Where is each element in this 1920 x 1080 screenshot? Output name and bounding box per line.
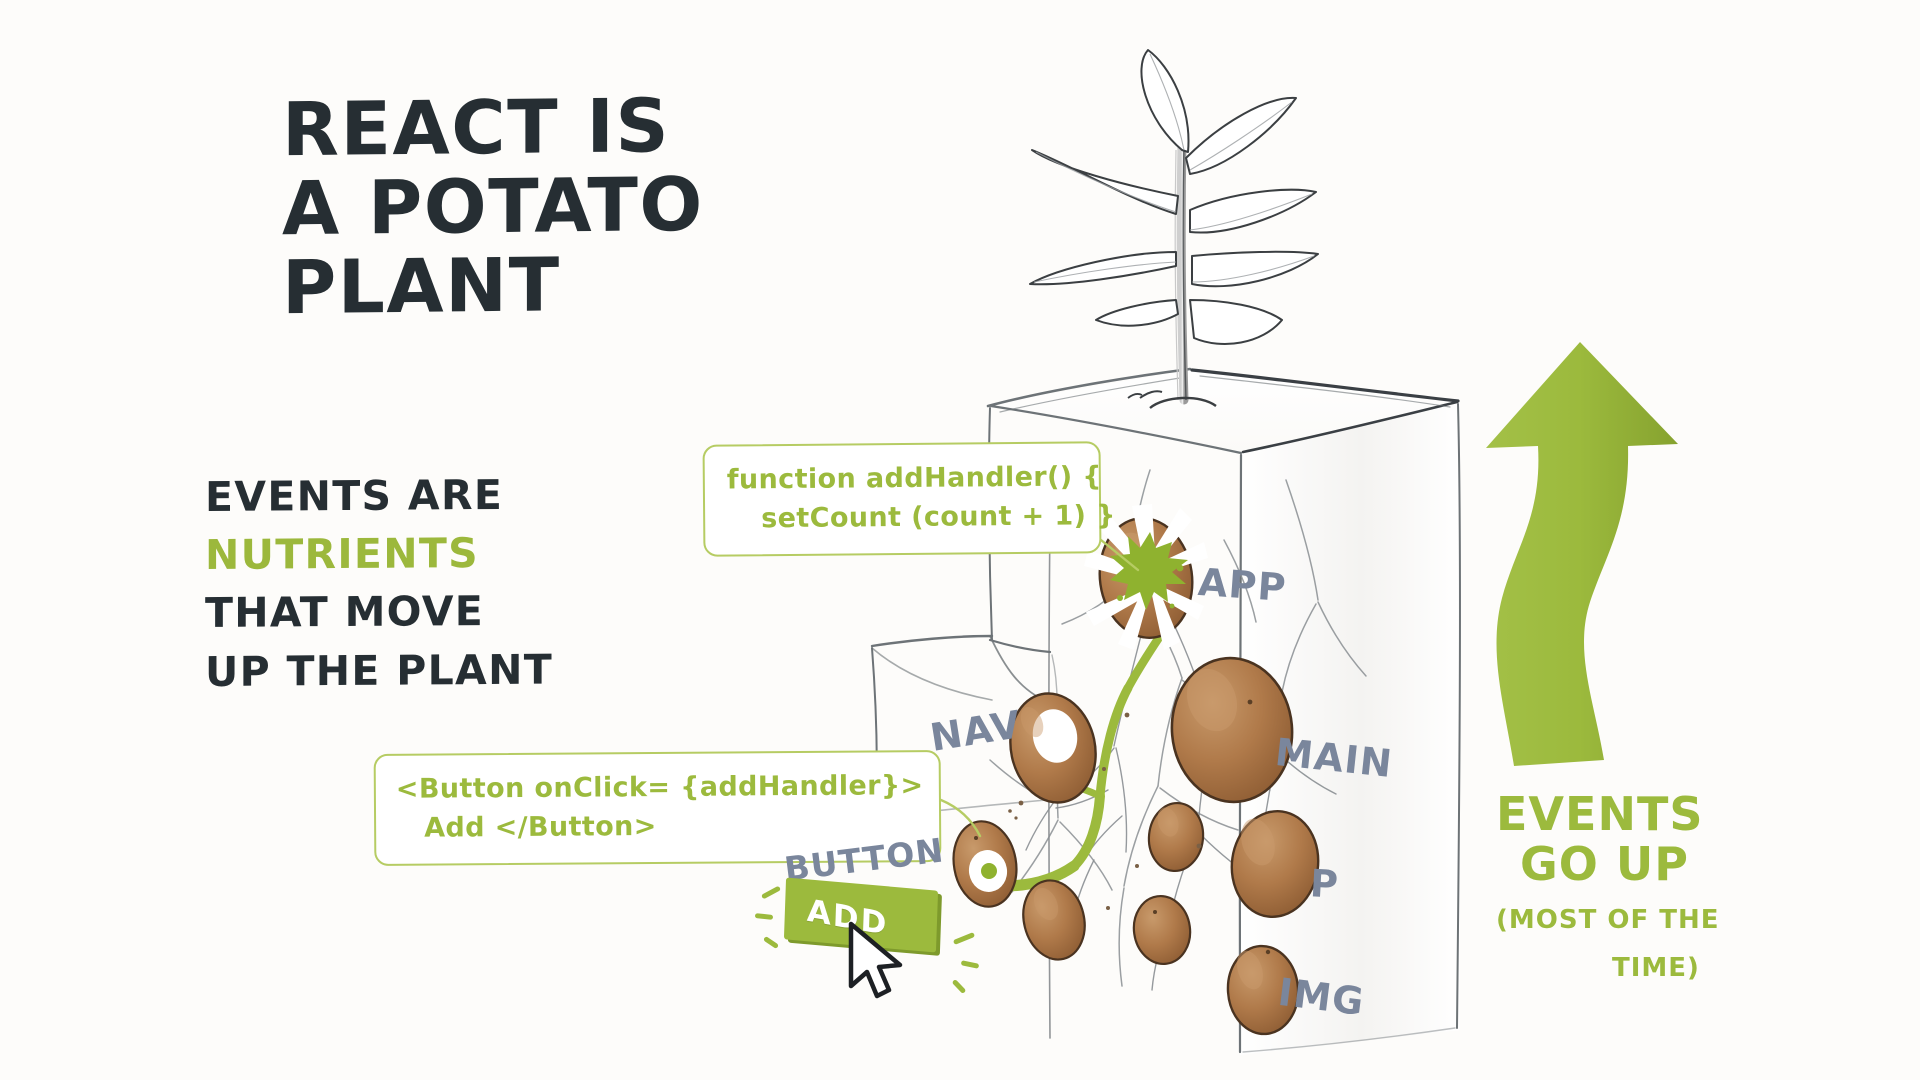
headline-line-2: A POTATO xyxy=(282,164,902,250)
lede-line-1: EVENTS ARE xyxy=(205,464,765,526)
click-spark xyxy=(961,960,980,969)
headline-line-1: REACT IS xyxy=(282,85,902,171)
arrow-up-wavy-icon xyxy=(1478,340,1688,770)
lede-line-3: THAT MOVE xyxy=(205,580,765,642)
page-title: REACT IS A POTATO PLANT xyxy=(282,85,902,329)
events-go-up-caption: EVENTS GO UP (MOST OF THE TIME) xyxy=(1496,790,1796,984)
lede-line-2-accent: NUTRIENTS xyxy=(205,522,765,584)
plant xyxy=(1030,50,1318,408)
lede-text: EVENTS ARE NUTRIENTS THAT MOVE UP THE PL… xyxy=(205,464,765,701)
caption-big-line-1: EVENTS xyxy=(1496,790,1796,840)
node-label-p: P xyxy=(1309,861,1340,906)
code-callout-handler: function addHandler() { setCount (count … xyxy=(703,441,1102,557)
caption-small-line-2: TIME) xyxy=(1496,953,1796,984)
click-spark xyxy=(953,932,975,945)
node-label-app: APP xyxy=(1197,560,1289,610)
headline-line-3: PLANT xyxy=(282,243,902,329)
caption-big-line-2: GO UP xyxy=(1496,840,1796,890)
illustration-canvas: REACT IS A POTATO PLANT EVENTS ARE NUTRI… xyxy=(0,0,1920,1080)
code-handler-line-2: setCount (count + 1) } xyxy=(727,497,1079,539)
lede-line-4: UP THE PLANT xyxy=(205,639,765,701)
caption-small-line-1: (MOST OF THE xyxy=(1496,905,1796,936)
add-button-group[interactable]: ADD xyxy=(785,878,1000,988)
code-jsx-line-1: <Button onClick= {addHandler}> xyxy=(396,766,921,809)
code-handler-line-1: function addHandler() { xyxy=(727,457,1079,499)
mouse-cursor-icon xyxy=(843,920,913,1010)
